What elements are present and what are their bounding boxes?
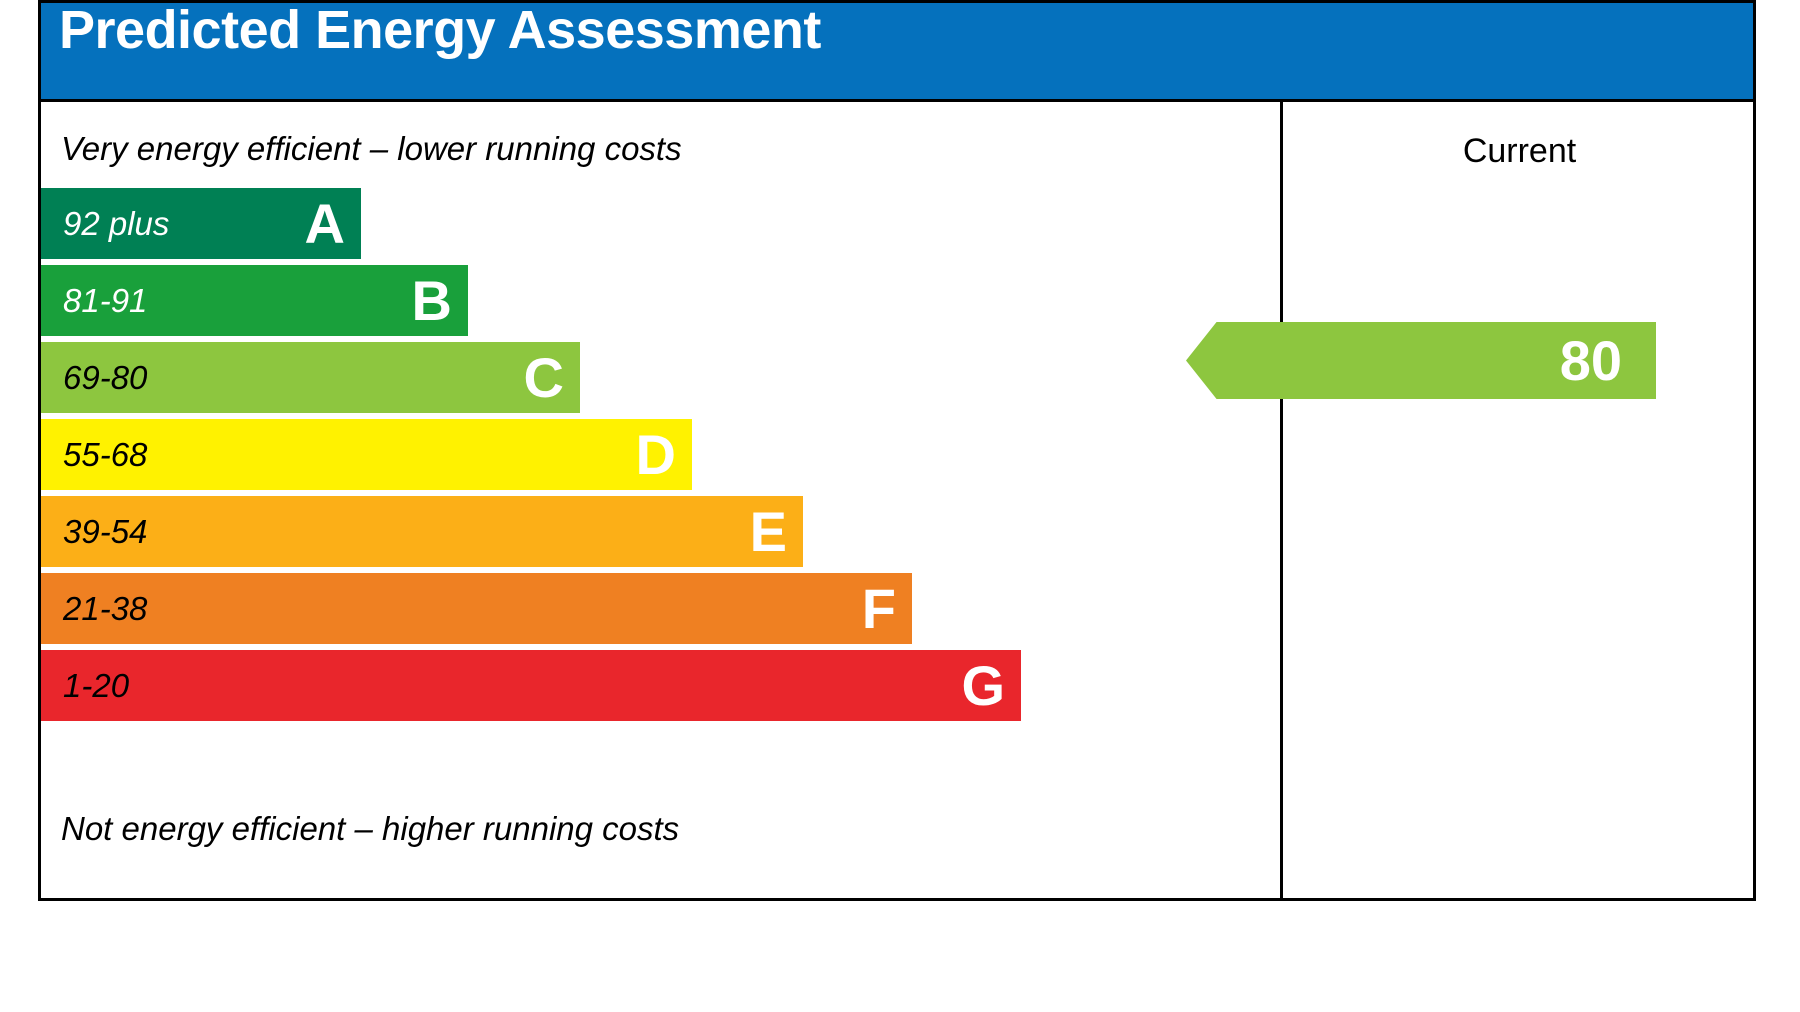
rating-band-f: 21-38F [41,573,912,644]
rating-band-letter-c: C [524,350,564,406]
chart-body: Very energy efficient – lower running co… [41,102,1753,898]
rating-band-a: 92 plusA [41,188,361,259]
rating-band-g: 1-20G [41,650,1021,721]
rating-band-range-d: 55-68 [63,436,147,474]
current-rating-arrow: 80 [1186,322,1656,399]
rating-scale-pane: Very energy efficient – lower running co… [41,102,1283,898]
rating-band-letter-d: D [636,427,676,483]
rating-band-letter-f: F [862,581,896,637]
rating-band-list: 92 plusA81-91B69-80C55-68D39-54E21-38F1-… [41,188,1021,727]
rating-band-b: 81-91B [41,265,468,336]
epc-chart: Predicted Energy Assessment Very energy … [38,0,1756,901]
rating-band-e: 39-54E [41,496,803,567]
efficiency-caption-bottom: Not energy efficient – higher running co… [61,810,679,848]
rating-band-d: 55-68D [41,419,692,490]
rating-band-range-c: 69-80 [63,359,147,397]
current-rating-value: 80 [1560,333,1622,389]
rating-band-c: 69-80C [41,342,580,413]
rating-band-range-b: 81-91 [63,282,147,320]
current-rating-pane: Current 80 [1286,102,1753,898]
current-column-header: Current [1286,132,1753,171]
rating-band-range-e: 39-54 [63,513,147,551]
chart-header-banner: Predicted Energy Assessment [41,3,1753,102]
efficiency-caption-top: Very energy efficient – lower running co… [61,130,682,168]
rating-band-letter-b: B [412,273,452,329]
page-title: Predicted Energy Assessment [59,0,821,61]
rating-band-range-f: 21-38 [63,590,147,628]
rating-band-letter-g: G [961,658,1005,714]
rating-band-range-a: 92 plus [63,205,169,243]
rating-band-range-g: 1-20 [63,667,129,705]
rating-band-letter-e: E [750,504,787,560]
rating-band-letter-a: A [305,196,345,252]
